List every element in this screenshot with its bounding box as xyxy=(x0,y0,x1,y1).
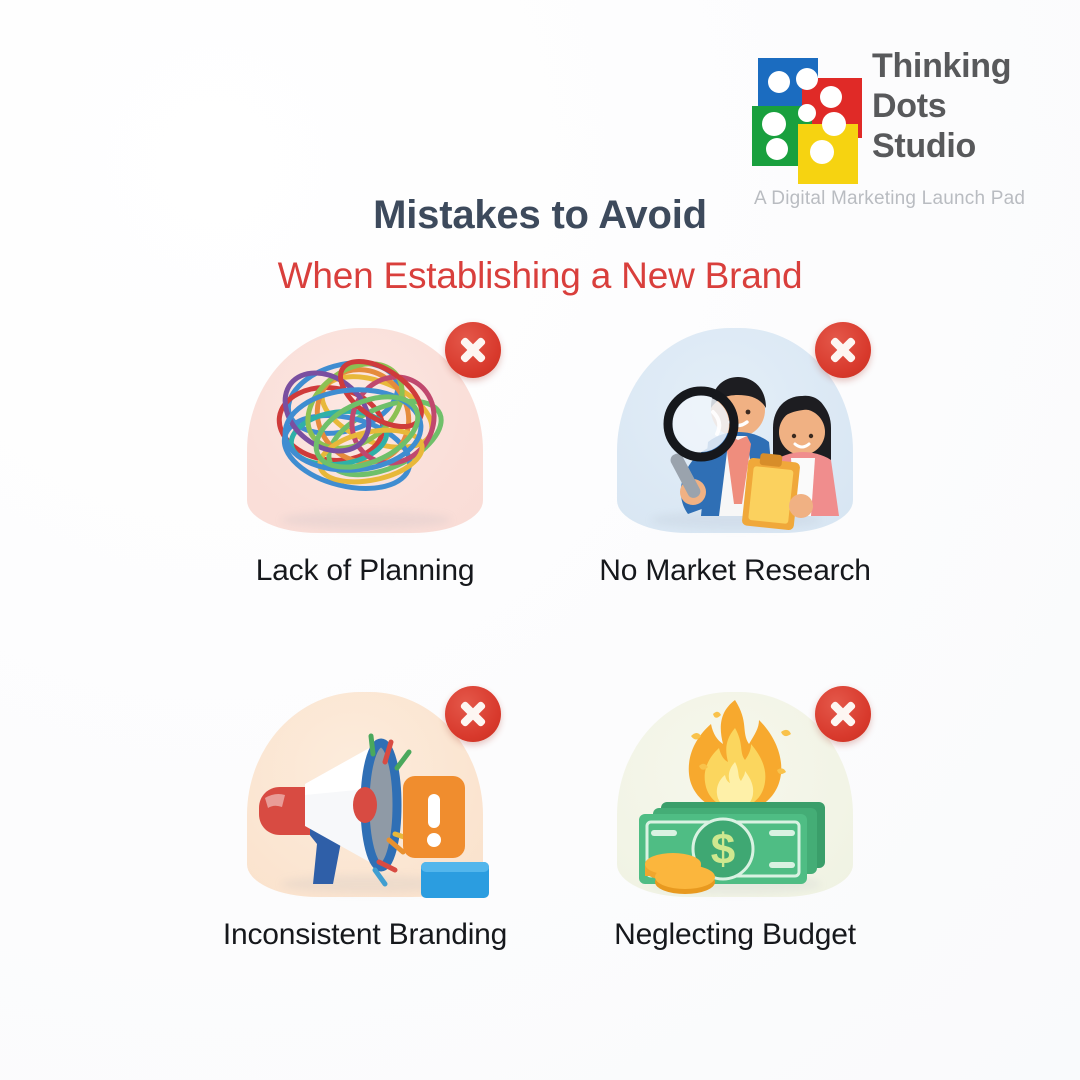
logo-dot xyxy=(810,140,834,164)
illustration-burning-money: $ xyxy=(605,684,865,909)
card-label: Neglecting Budget xyxy=(570,915,900,954)
red-x-badge-icon xyxy=(445,686,501,742)
illustration-megaphone-with-warning xyxy=(235,684,495,909)
svg-text:$: $ xyxy=(711,825,735,874)
card-label: No Market Research xyxy=(570,551,900,590)
brand-name-line-1: Thinking xyxy=(872,46,1057,86)
brand-name: Thinking Dots Studio xyxy=(872,46,1057,166)
card-neglecting-budget[interactable]: $ Neglecting Budget xyxy=(550,684,920,954)
grid-row-2: Inconsistent Branding xyxy=(180,684,920,954)
illustration-tangled-scribble-loops xyxy=(235,320,495,545)
four-dots-squares-logo-icon xyxy=(752,54,862,164)
red-x-badge-icon xyxy=(815,686,871,742)
logo-dot xyxy=(798,104,816,122)
logo-dot xyxy=(822,112,846,136)
card-label: Lack of Planning xyxy=(200,551,530,590)
logo-dot xyxy=(796,68,818,90)
poster-canvas: Thinking Dots Studio A Digital Marketing… xyxy=(0,0,1080,1080)
grid-row-1: Lack of Planning xyxy=(180,320,920,590)
red-x-badge-icon xyxy=(445,322,501,378)
logo-dot xyxy=(766,138,788,160)
logo-dot xyxy=(820,86,842,108)
red-x-badge-icon xyxy=(815,322,871,378)
mistakes-grid: Lack of Planning xyxy=(180,320,920,954)
brand-name-line-2: Dots xyxy=(872,86,1057,126)
card-label: Inconsistent Branding xyxy=(200,915,530,954)
card-lack-of-planning[interactable]: Lack of Planning xyxy=(180,320,550,590)
page-subtitle: When Establishing a New Brand xyxy=(0,255,1080,297)
brand-logo-block: Thinking Dots Studio A Digital Marketing… xyxy=(752,46,1052,216)
page-title: Mistakes to Avoid xyxy=(0,193,1080,238)
brand-name-line-3: Studio xyxy=(872,126,1057,166)
logo-dot xyxy=(768,71,790,93)
illustration-two-people-with-magnifier xyxy=(605,320,865,545)
card-no-market-research[interactable]: No Market Research xyxy=(550,320,920,590)
logo-dot xyxy=(762,112,786,136)
card-inconsistent-branding[interactable]: Inconsistent Branding xyxy=(180,684,550,954)
